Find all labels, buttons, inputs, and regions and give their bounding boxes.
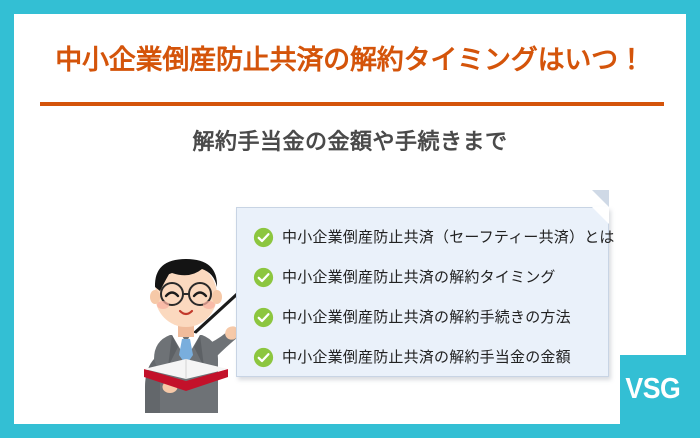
list-item[interactable]: 中小企業倒産防止共済の解約タイミング (253, 258, 600, 296)
vsg-logo: VSG (620, 355, 686, 424)
inner-canvas: 中小企業倒産防止共済の解約タイミングはいつ！ 解約手当金の金額や手続きまで (14, 14, 686, 424)
topics-list: 中小企業倒産防止共済（セーフティー共済）とは 中小企業倒産防止共済の解約タイミン… (253, 218, 600, 378)
page-subtitle: 解約手当金の金額や手続きまで (14, 124, 686, 156)
check-circle-icon (253, 307, 274, 328)
page-title: 中小企業倒産防止共済の解約タイミングはいつ！ (14, 46, 686, 76)
list-item-label: 中小企業倒産防止共済の解約手続きの方法 (282, 310, 571, 325)
list-item[interactable]: 中小企業倒産防止共済の解約手続きの方法 (253, 298, 600, 336)
list-item[interactable]: 中小企業倒産防止共済（セーフティー共済）とは (253, 218, 600, 256)
topics-panel: 中小企業倒産防止共済（セーフティー共済）とは 中小企業倒産防止共済の解約タイミン… (236, 207, 609, 377)
list-item-label: 中小企業倒産防止共済の解約手当金の金額 (282, 350, 571, 365)
title-divider (40, 102, 664, 106)
list-item[interactable]: 中小企業倒産防止共済の解約手当金の金額 (253, 338, 600, 376)
check-circle-icon (253, 347, 274, 368)
check-circle-icon (253, 267, 274, 288)
check-circle-icon (253, 227, 274, 248)
logo-text: VSG (626, 373, 681, 406)
list-item-label: 中小企業倒産防止共済（セーフティー共済）とは (282, 230, 615, 245)
list-item-label: 中小企業倒産防止共済の解約タイミング (282, 270, 556, 285)
thumbnail-canvas: 中小企業倒産防止共済の解約タイミングはいつ！ 解約手当金の金額や手続きまで (0, 0, 700, 438)
header-block: 中小企業倒産防止共済の解約タイミングはいつ！ 解約手当金の金額や手続きまで (14, 14, 686, 164)
